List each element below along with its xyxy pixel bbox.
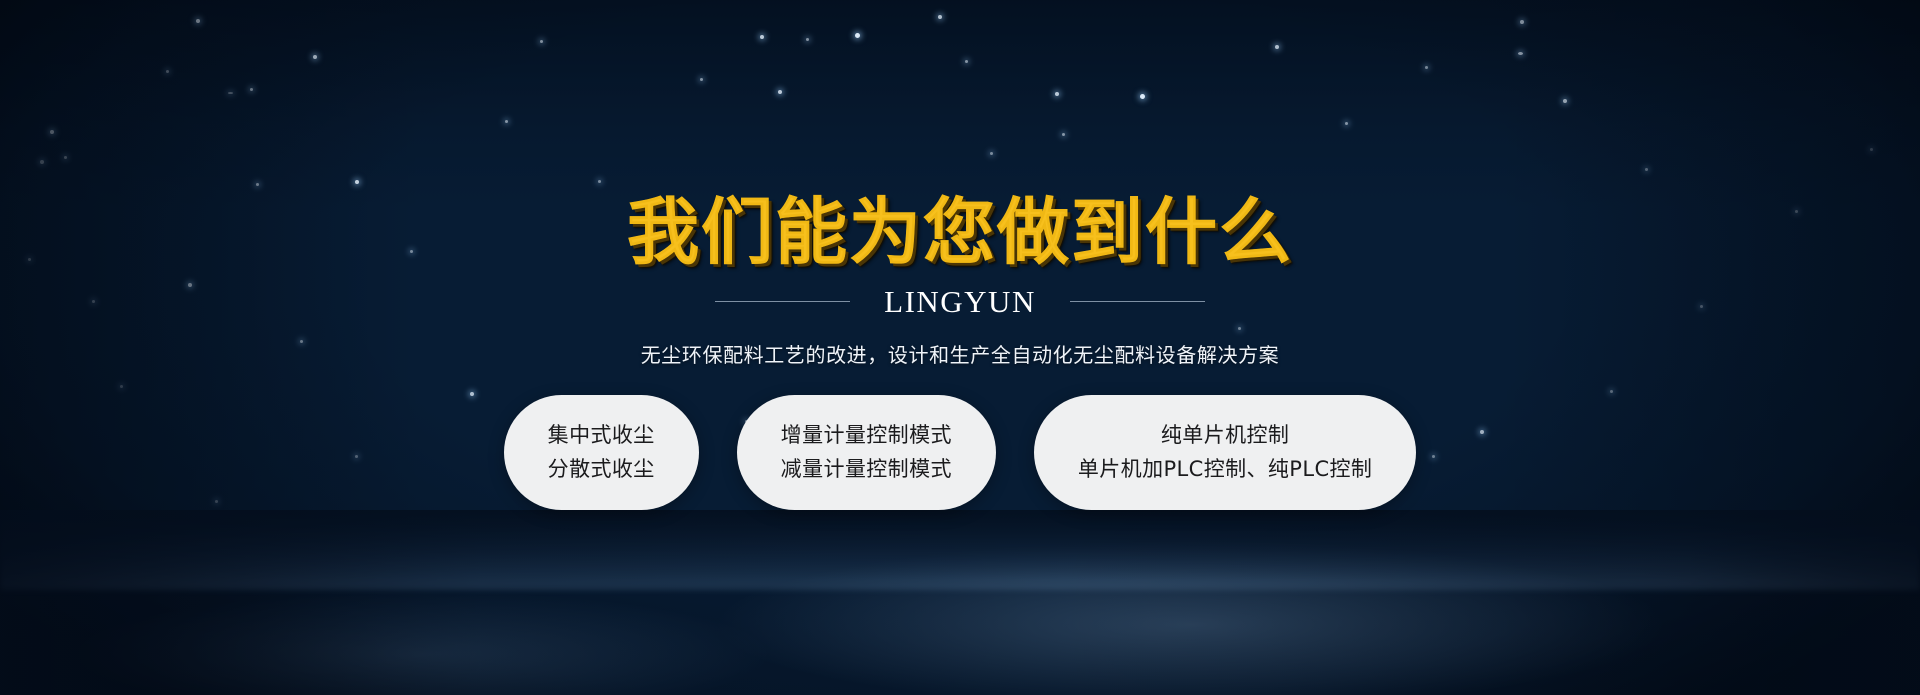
pill-line: 集中式收尘 xyxy=(548,425,655,446)
pill-line: 增量计量控制模式 xyxy=(781,425,952,446)
feature-pill-list: 集中式收尘 分散式收尘 增量计量控制模式 减量计量控制模式 纯单片机控制 单片机… xyxy=(504,395,1417,510)
banner-content: 我们能为您做到什么 LINGYUN 无尘环保配料工艺的改进，设计和生产全自动化无… xyxy=(0,0,1920,695)
page-title: 我们能为您做到什么 xyxy=(627,196,1293,268)
hero-banner: 我们能为您做到什么 LINGYUN 无尘环保配料工艺的改进，设计和生产全自动化无… xyxy=(0,0,1920,695)
pill-line: 减量计量控制模式 xyxy=(781,459,952,480)
brand-name: LINGYUN xyxy=(884,286,1036,317)
pill-line: 单片机加PLC控制、纯PLC控制 xyxy=(1078,459,1372,480)
divider-left xyxy=(715,301,850,302)
brand-row: LINGYUN xyxy=(715,286,1205,317)
divider-right xyxy=(1070,301,1205,302)
banner-description: 无尘环保配料工艺的改进，设计和生产全自动化无尘配料设备解决方案 xyxy=(641,339,1280,368)
feature-pill-controller-type[interactable]: 纯单片机控制 单片机加PLC控制、纯PLC控制 xyxy=(1034,395,1416,510)
feature-pill-dust-collection[interactable]: 集中式收尘 分散式收尘 xyxy=(504,395,699,510)
pill-line: 分散式收尘 xyxy=(548,459,655,480)
pill-line: 纯单片机控制 xyxy=(1161,425,1289,446)
feature-pill-metering-control-mode[interactable]: 增量计量控制模式 减量计量控制模式 xyxy=(737,395,996,510)
